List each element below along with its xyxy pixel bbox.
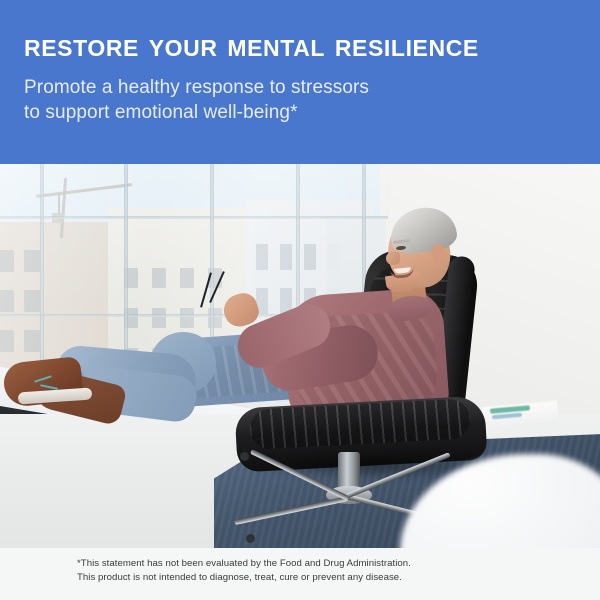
subject-nose bbox=[386, 252, 400, 265]
subtitle-line-1: Promote a healthy response to stressors bbox=[24, 75, 576, 100]
window-transom bbox=[0, 216, 388, 219]
hero-photo bbox=[0, 164, 600, 548]
chair-base-foot bbox=[246, 534, 255, 543]
subtitle: Promote a healthy response to stressors … bbox=[24, 75, 576, 125]
chair-base-foot bbox=[240, 452, 249, 461]
header-band: Restore Your Mental Resilience Promote a… bbox=[0, 0, 600, 164]
construction-crane-jib bbox=[36, 183, 132, 198]
page-title: Restore Your Mental Resilience bbox=[24, 28, 576, 61]
footer-disclaimer: *This statement has not been evaluated b… bbox=[0, 548, 600, 600]
disclaimer-line-1: *This statement has not been evaluated b… bbox=[77, 557, 600, 571]
subtitle-line-2: to support emotional well-being* bbox=[24, 100, 576, 125]
promotional-banner: Restore Your Mental Resilience Promote a… bbox=[0, 0, 600, 600]
disclaimer-line-2: This product is not intended to diagnose… bbox=[77, 571, 600, 585]
